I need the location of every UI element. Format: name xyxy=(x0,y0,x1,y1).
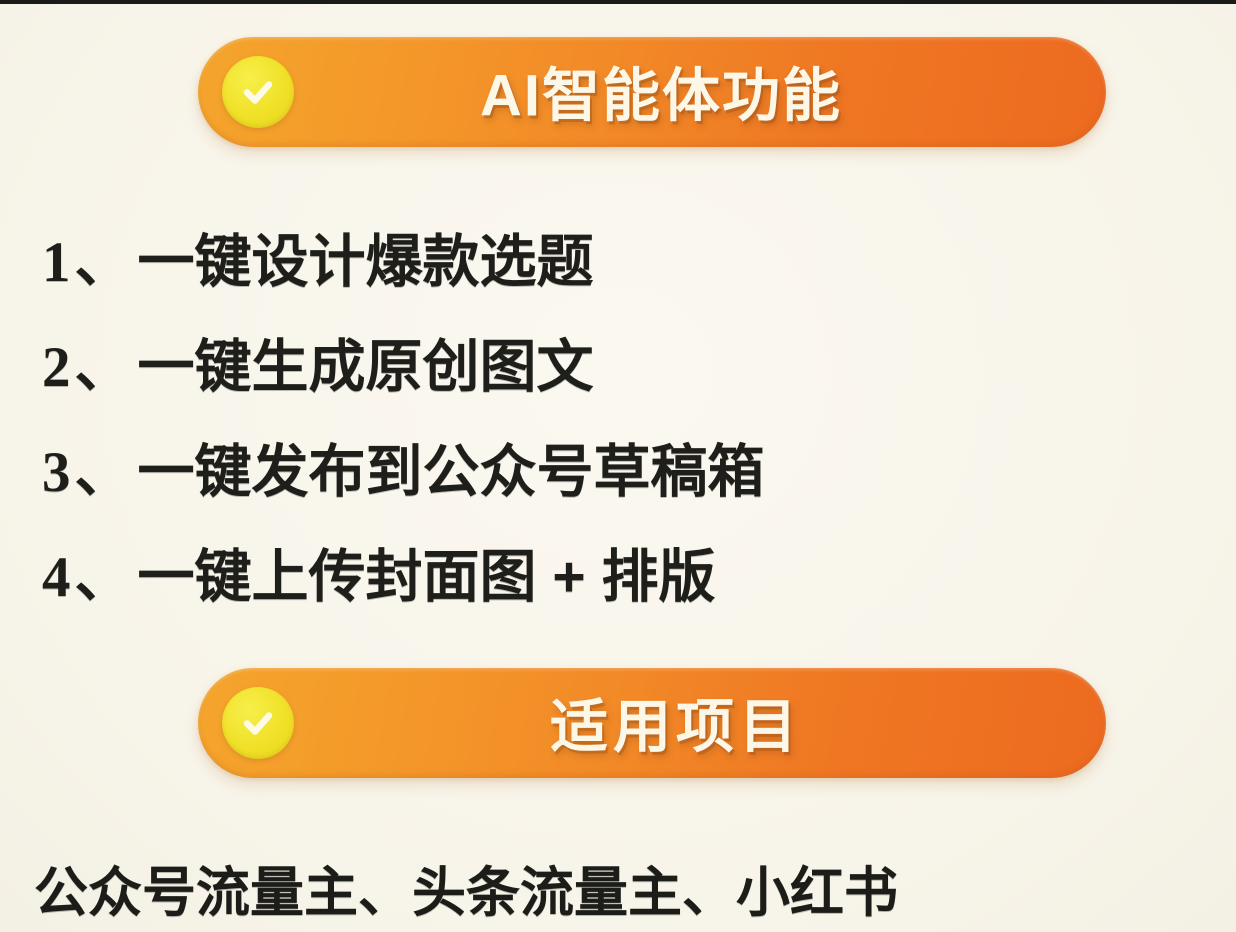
feature-list: 1 、 一键设计爆款选题 2 、 一键生成原创图文 3 、 一键发布到公众号草稿… xyxy=(42,216,1092,636)
list-item: 3 、 一键发布到公众号草稿箱 xyxy=(42,426,1092,531)
list-item-separator: 、 xyxy=(75,216,132,298)
list-item-separator: 、 xyxy=(75,321,132,403)
list-item: 4 、 一键上传封面图 + 排版 xyxy=(42,531,1092,636)
list-item-separator: 、 xyxy=(75,531,132,613)
list-item-label: 一键发布到公众号草稿箱 xyxy=(138,426,765,508)
list-item-index: 3 xyxy=(42,440,71,505)
top-edge-bar xyxy=(0,0,1236,4)
list-item-index: 4 xyxy=(42,545,71,610)
list-item-separator: 、 xyxy=(75,426,132,508)
list-item-index: 2 xyxy=(42,335,71,400)
banner-title-applicable-projects: 适用项目 xyxy=(198,679,1106,763)
banner-title-ai-features: AI智能体功能 xyxy=(198,48,1106,132)
section-banner-ai-features: AI智能体功能 xyxy=(198,37,1106,147)
list-item-label: 一键上传封面图 + 排版 xyxy=(138,531,716,613)
list-item: 2 、 一键生成原创图文 xyxy=(42,321,1092,426)
promo-poster: AI智能体功能 1 、 一键设计爆款选题 2 、 一键生成原创图文 3 、 一键… xyxy=(0,0,1236,932)
list-item-label: 一键生成原创图文 xyxy=(138,321,594,403)
applicable-projects-text: 公众号流量主、头条流量主、小红书 xyxy=(34,848,898,927)
list-item-label: 一键设计爆款选题 xyxy=(138,216,594,298)
section-banner-applicable-projects: 适用项目 xyxy=(198,668,1106,778)
list-item: 1 、 一键设计爆款选题 xyxy=(42,216,1092,321)
list-item-index: 1 xyxy=(42,230,71,295)
